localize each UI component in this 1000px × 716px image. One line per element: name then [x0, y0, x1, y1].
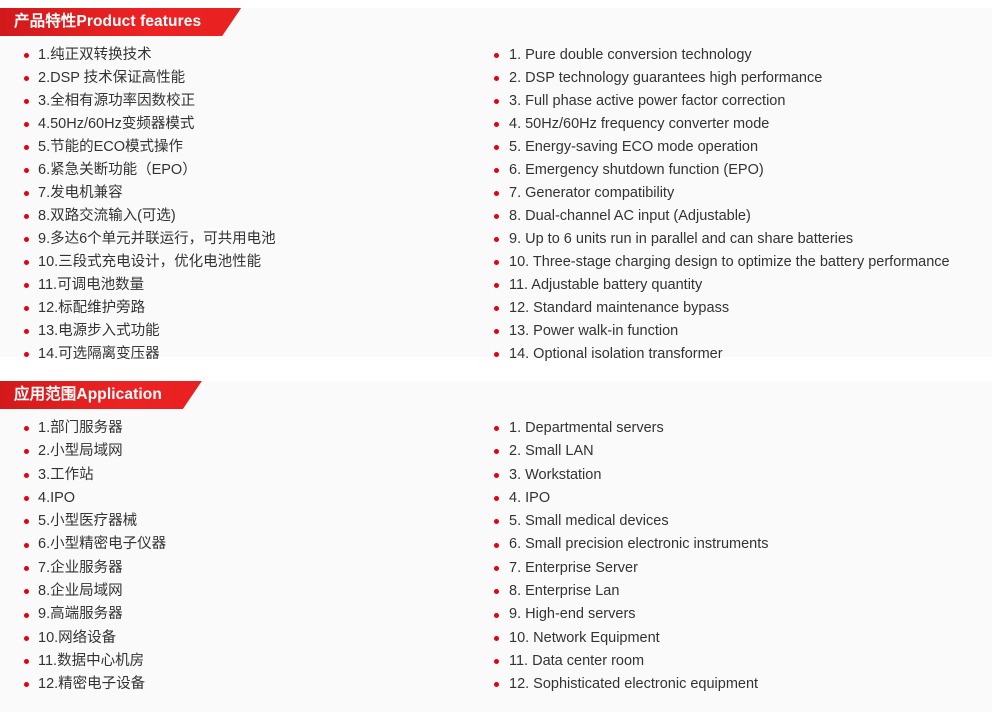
product-features-chinese-item: 12.标配维护旁路: [24, 297, 484, 320]
application-chinese-item: 4.IPO: [24, 487, 484, 510]
product-features-chinese-item: 10.三段式充电设计，优化电池性能: [24, 251, 484, 274]
application-english-item: 5. Small medical devices: [494, 510, 992, 533]
application-english-column: 1. Departmental servers2. Small LAN3. Wo…: [494, 417, 992, 697]
application-chinese-item: 3.工作站: [24, 464, 484, 487]
application-english-item: 7. Enterprise Server: [494, 557, 992, 580]
application-english-list: 1. Departmental servers2. Small LAN3. Wo…: [494, 417, 992, 697]
product-features-english-item: 5. Energy-saving ECO mode operation: [494, 136, 992, 159]
product-features-english-item: 7. Generator compatibility: [494, 182, 992, 205]
application-english-item: 6. Small precision electronic instrument…: [494, 533, 992, 556]
application-chinese-item: 10.网络设备: [24, 627, 484, 650]
product-features-english-item: 10. Three-stage charging design to optim…: [494, 251, 992, 274]
product-features-english-item: 8. Dual-channel AC input (Adjustable): [494, 205, 992, 228]
application-panel: 应用范围Application 1.部门服务器2.小型局域网3.工作站4.IPO…: [0, 381, 992, 712]
application-chinese-item: 8.企业局域网: [24, 580, 484, 603]
product-features-banner-wrap: 产品特性Product features: [0, 8, 241, 36]
product-features-english-item: 2. DSP technology guarantees high perfor…: [494, 67, 992, 90]
application-english-item: 11. Data center room: [494, 650, 992, 673]
product-features-english-item: 14. Optional isolation transformer: [494, 343, 992, 366]
product-features-english-item: 4. 50Hz/60Hz frequency converter mode: [494, 113, 992, 136]
product-features-chinese-item: 2.DSP 技术保证高性能: [24, 67, 484, 90]
product-features-chinese-item: 5.节能的ECO模式操作: [24, 136, 484, 159]
product-features-chinese-item: 4.50Hz/60Hz变频器模式: [24, 113, 484, 136]
product-features-chinese-list: 1.纯正双转换技术2.DSP 技术保证高性能3.全相有源功率因数校正4.50Hz…: [24, 44, 484, 366]
application-english-item: 3. Workstation: [494, 464, 992, 487]
product-features-english-item: 3. Full phase active power factor correc…: [494, 90, 992, 113]
application-english-item: 12. Sophisticated electronic equipment: [494, 673, 992, 696]
application-english-item: 9. High-end servers: [494, 603, 992, 626]
application-english-item: 4. IPO: [494, 487, 992, 510]
product-features-english-item: 13. Power walk-in function: [494, 320, 992, 343]
product-features-english-item: 11. Adjustable battery quantity: [494, 274, 992, 297]
application-chinese-item: 7.企业服务器: [24, 557, 484, 580]
application-english-item: 10. Network Equipment: [494, 627, 992, 650]
product-features-english-item: 9. Up to 6 units run in parallel and can…: [494, 228, 992, 251]
application-chinese-item: 12.精密电子设备: [24, 673, 484, 696]
application-chinese-list: 1.部门服务器2.小型局域网3.工作站4.IPO5.小型医疗器械6.小型精密电子…: [24, 417, 484, 697]
application-chinese-column: 1.部门服务器2.小型局域网3.工作站4.IPO5.小型医疗器械6.小型精密电子…: [24, 417, 484, 697]
product-features-chinese-item: 1.纯正双转换技术: [24, 44, 484, 67]
product-features-english-column: 1. Pure double conversion technology2. D…: [494, 44, 992, 366]
product-features-chinese-item: 7.发电机兼容: [24, 182, 484, 205]
product-features-english-list: 1. Pure double conversion technology2. D…: [494, 44, 992, 366]
product-features-english-item: 12. Standard maintenance bypass: [494, 297, 992, 320]
application-english-item: 8. Enterprise Lan: [494, 580, 992, 603]
application-banner: 应用范围Application: [0, 381, 202, 409]
application-chinese-item: 11.数据中心机房: [24, 650, 484, 673]
product-features-chinese-column: 1.纯正双转换技术2.DSP 技术保证高性能3.全相有源功率因数校正4.50Hz…: [24, 44, 484, 366]
application-chinese-item: 2.小型局域网: [24, 440, 484, 463]
application-chinese-item: 6.小型精密电子仪器: [24, 533, 484, 556]
application-chinese-item: 1.部门服务器: [24, 417, 484, 440]
application-chinese-item: 5.小型医疗器械: [24, 510, 484, 533]
product-features-banner: 产品特性Product features: [0, 8, 241, 36]
product-features-chinese-item: 9.多达6个单元并联运行，可共用电池: [24, 228, 484, 251]
application-english-item: 2. Small LAN: [494, 440, 992, 463]
product-features-chinese-item: 13.电源步入式功能: [24, 320, 484, 343]
product-features-chinese-item: 14.可选隔离变压器: [24, 343, 484, 366]
product-features-english-item: 1. Pure double conversion technology: [494, 44, 992, 67]
product-features-chinese-item: 11.可调电池数量: [24, 274, 484, 297]
application-chinese-item: 9.高端服务器: [24, 603, 484, 626]
application-english-item: 1. Departmental servers: [494, 417, 992, 440]
product-features-chinese-item: 3.全相有源功率因数校正: [24, 90, 484, 113]
product-features-chinese-item: 6.紧急关断功能（EPO）: [24, 159, 484, 182]
product-features-english-item: 6. Emergency shutdown function (EPO): [494, 159, 992, 182]
product-features-chinese-item: 8.双路交流输入(可选): [24, 205, 484, 228]
product-features-panel: 产品特性Product features 1.纯正双转换技术2.DSP 技术保证…: [0, 8, 992, 357]
application-banner-wrap: 应用范围Application: [0, 381, 202, 409]
product-spec-page: 产品特性Product features 1.纯正双转换技术2.DSP 技术保证…: [0, 0, 1000, 716]
